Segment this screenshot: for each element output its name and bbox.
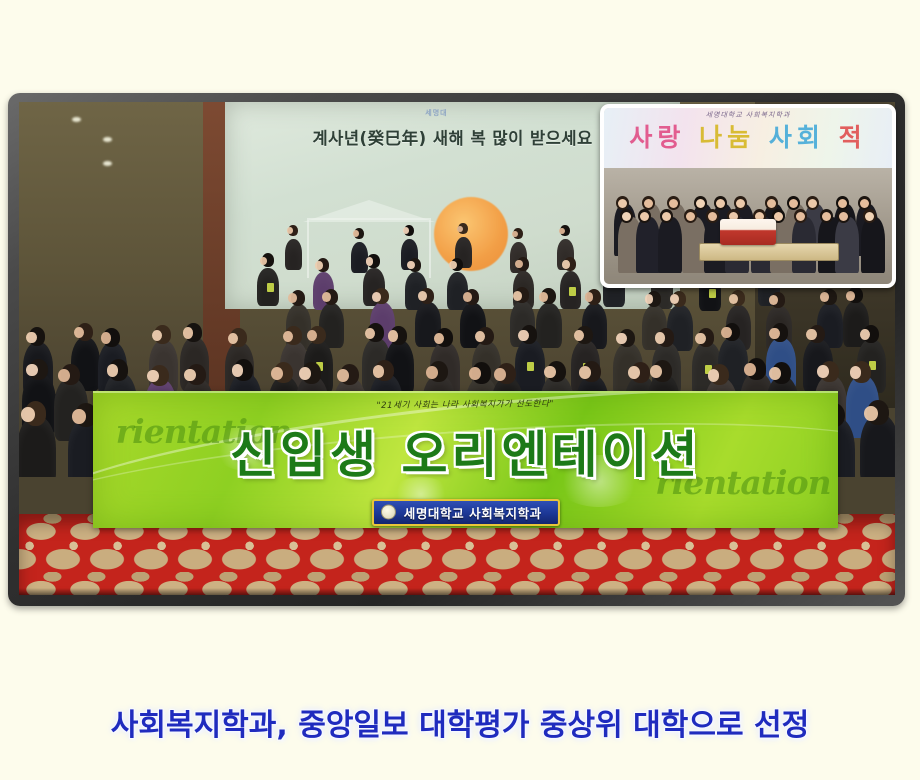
ceiling-light [103,137,112,142]
inset-photo-image: 세명대학교 사회복지학과 사랑 나눔 사회 적 [604,108,892,284]
crowd-person [351,242,368,273]
inset-crowd-face [789,199,798,208]
crowd-person-face [315,261,323,269]
crowd-person-face [512,231,518,238]
crowd-person-face [372,292,381,302]
crowd-person-face [58,369,70,382]
inset-crowd-person [861,217,885,273]
crowd-person-face [670,294,679,304]
name-tag [709,289,716,298]
crowd-person-face [769,328,779,339]
crowd-person-face [518,330,528,341]
crowd-person-face [183,327,193,338]
crowd-person-face [337,369,349,382]
crowd-person-face [26,332,36,343]
crowd-person-face [769,295,778,305]
crowd-person-face [655,332,665,343]
inset-banner-word: 적 [839,123,867,152]
university-emblem-icon [381,505,396,520]
inset-crowd-face [716,199,725,208]
crowd-person-face [494,368,506,381]
crowd-person-face [729,294,738,304]
crowd-person-face [228,333,238,344]
crowd-person-face [539,292,548,302]
crowd-person-face [426,366,438,379]
inset-crowd-person [658,217,682,273]
inset-crowd-face [644,199,653,208]
orientation-banner: rientation rientation "21세기 사회는 나라 사회복지가… [93,391,838,529]
crowd-person-face [513,291,522,301]
crowd-person-face [21,407,35,422]
banner-ribbon: 세명대학교 사회복지학과 [372,499,560,526]
crowd-person-face [463,292,472,302]
inset-crowd-face [669,199,678,208]
inset-photo-frame: 세명대학교 사회복지학과 사랑 나눔 사회 적 [600,104,896,288]
crowd-person-face [287,227,293,234]
crowd-person-face [72,409,86,424]
carpet-shadow [19,588,895,595]
inset-banner-word: 사랑 [629,123,685,152]
crowd-person-face [708,369,720,382]
page-caption: 사회복지학과, 중앙일보 대학평가 중상위 대학으로 선정 [0,700,920,744]
crowd-person-face [322,292,331,302]
crowd-person-face [373,365,385,378]
crowd-person-face [366,257,374,265]
inset-crowd-face [767,199,776,208]
inset-crowd-person [636,217,660,273]
crowd-person-face [101,332,111,343]
crowd-person [536,303,562,349]
crowd-person-face [353,230,359,237]
screen-small-label: 세명대 [425,108,447,118]
crowd-person-face [418,291,427,301]
inset-table [699,243,839,261]
inset-crowd-face [696,199,705,208]
crowd-person-face [449,261,457,269]
inset-event-banner: 세명대학교 사회복지학과 사랑 나눔 사회 적 [604,108,892,168]
inset-banner-word: 사회 [769,123,825,152]
crowd-person-face [365,328,375,339]
crowd-person [447,272,469,310]
name-tag [527,362,534,371]
crowd-person-face [515,260,523,268]
banner-ribbon-text: 세명대학교 사회복지학과 [404,506,542,521]
name-tag [267,283,274,292]
ceiling-light [72,117,81,122]
banner-headline: 신입생 오리엔테이션 [93,415,838,487]
crowd-person-face [579,366,591,379]
crowd-person-face [544,366,556,379]
crowd-person-face [559,228,565,235]
inset-cake-box [720,219,776,245]
crowd-person-face [271,367,283,380]
crowd-person-face [616,333,626,344]
crowd-person-face [695,333,705,344]
crowd-person-face [388,330,398,341]
inset-banner-text: 사랑 나눔 사회 적 [604,118,892,154]
crowd-person-face [299,367,311,380]
crowd-person-face [864,406,878,421]
crowd-person-face [744,363,756,376]
crowd-person [285,239,302,270]
crowd-person-face [434,333,444,344]
inset-crowd-face [618,199,627,208]
crowd-person-face [26,364,38,377]
crowd-person-face [562,260,570,268]
crowd-person-face [721,327,731,338]
name-tag [569,287,576,296]
crowd-person-face [846,291,855,301]
crowd-person-face [806,329,816,340]
crowd-person-face [457,226,463,233]
inset-banner-word: 나눔 [699,123,755,152]
crowd-person-face [403,227,409,234]
